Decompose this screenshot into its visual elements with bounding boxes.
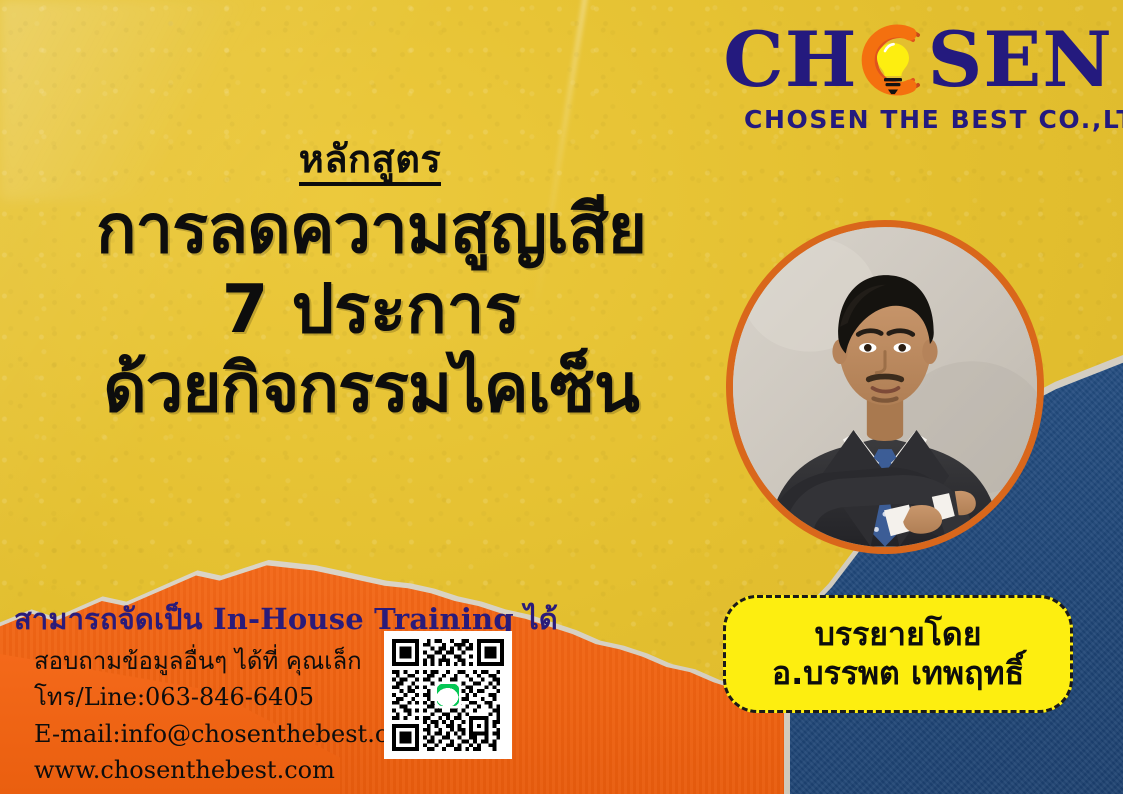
contact-info-block: สอบถามข้อมูลอื่นๆ ได้ที่ คุณเล็ก โทร/Lin… <box>34 643 433 789</box>
line-app-icon <box>434 681 461 709</box>
lightbulb-icon <box>856 23 930 97</box>
headline-line-1: การลดความสูญเสีย <box>0 192 742 268</box>
contact-line-person: สอบถามข้อมูลอื่นๆ ได้ที่ คุณเล็ก <box>34 643 433 679</box>
headline-line-3: ด้วยกิจกรรมไคเซ็น <box>0 351 742 427</box>
logo-word-left: CH <box>723 22 857 98</box>
promotional-poster: CH SEN CHOSEN THE B <box>0 0 1123 794</box>
headline-line-2: 7 ประการ <box>0 272 742 348</box>
speaker-prefix: บรรยายโดย <box>815 615 982 654</box>
course-label: หลักสูตร <box>0 128 740 189</box>
speaker-badge: บรรยายโดย อ.บรรพต เทพฤทธิ์ <box>723 595 1073 713</box>
speaker-portrait-photo <box>726 220 1044 554</box>
contact-line-website: www.chosenthebest.com <box>34 752 433 788</box>
line-qr-code[interactable] <box>384 631 512 759</box>
course-label-text: หลักสูตร <box>299 137 442 186</box>
logo-wordmark: CH SEN <box>744 22 1092 98</box>
logo-word-right: SEN <box>928 22 1113 98</box>
contact-line-email: E-mail:info@chosenthebest.com, <box>34 716 433 752</box>
company-logo: CH SEN CHOSEN THE B <box>744 22 1092 132</box>
logo-tagline: CHOSEN THE BEST CO.,LTD. <box>744 107 1092 132</box>
speaker-name: อ.บรรพต เทพฤทธิ์ <box>772 654 1024 693</box>
page-title: การลดความสูญเสีย 7 ประการ ด้วยกิจกรรมไคเ… <box>0 192 742 427</box>
contact-line-phone: โทร/Line:063-846-6405 <box>34 679 433 715</box>
